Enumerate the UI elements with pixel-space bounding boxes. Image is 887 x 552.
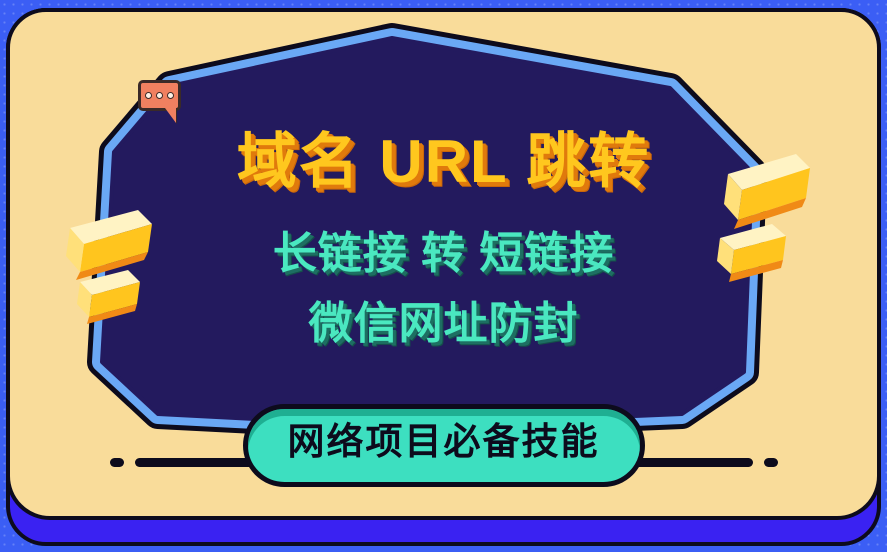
rail-dot-icon [764,458,778,467]
bubble-dot-icon [156,92,163,99]
poster-subline-2: 微信网址防封 [10,287,877,351]
bubble-dot-icon [167,92,174,99]
bubble-dot-icon [145,92,152,99]
poster-canvas: 域名 URL 跳转 长链接 转 短链接 微信网址防封 网络项目必备技能 [0,0,887,552]
headline-stack: 域名 URL 跳转 长链接 转 短链接 微信网址防封 [10,130,877,351]
poster-card: 域名 URL 跳转 长链接 转 短链接 微信网址防封 网络项目必备技能 [6,8,881,520]
tagline-pill-label: 网络项目必备技能 [288,422,600,463]
rail-dash-icon [625,458,753,467]
rail-dash-icon [135,458,263,467]
poster-subline-1: 长链接 转 短链接 [10,217,877,281]
tagline-pill[interactable]: 网络项目必备技能 [243,404,645,487]
pill-row: 网络项目必备技能 [10,402,877,488]
poster-title: 域名 URL 跳转 [10,130,877,193]
dash-dot-rail-left [110,458,263,467]
speech-bubble-icon [138,80,181,111]
dash-dot-rail-right [625,458,778,467]
rail-dot-icon [110,458,124,467]
bubble-tail-icon [157,108,176,123]
